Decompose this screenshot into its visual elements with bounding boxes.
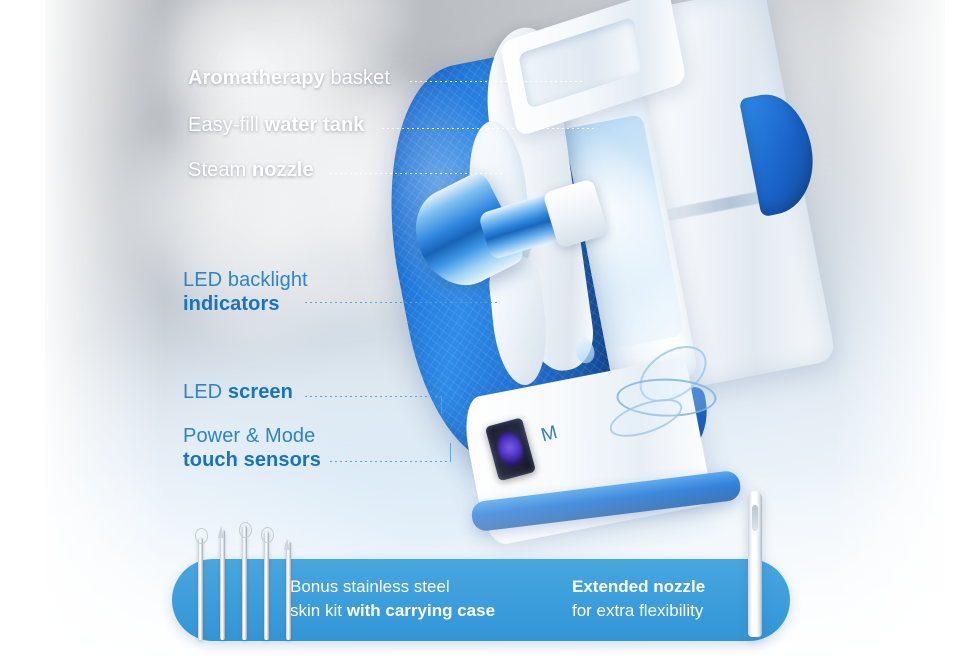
- skin-kit-tools: [196, 528, 300, 640]
- banner-left-line1: Bonus stainless steel: [290, 575, 495, 599]
- extended-nozzle: [748, 491, 762, 637]
- callout-led-screen: LED screen: [183, 380, 293, 404]
- skin-tool-loop-icon: [239, 522, 252, 538]
- callout-led-screen-light: LED: [183, 381, 228, 403]
- callout-water-tank-light: Easy-fill: [188, 114, 265, 136]
- callout-water-tank: Easy-fill water tank: [188, 113, 365, 137]
- callout-led-screen-bold: screen: [228, 381, 293, 403]
- callout-steam-nozzle-bold: nozzle: [252, 159, 314, 181]
- banner-right-line1: Extended nozzle: [572, 575, 705, 599]
- callout-aromatherapy-bold: Aromatherapy: [188, 67, 325, 89]
- banner-left-text: Bonus stainless steel skin kit with carr…: [290, 575, 495, 623]
- callout-led-backlight-indicators: LED backlight indicators: [183, 268, 308, 317]
- product-infographic: M Aromatherapy basket Easy-fill water ta…: [0, 0, 960, 660]
- callout-steam-nozzle-light: Steam: [188, 159, 252, 181]
- led-screen-glow: [494, 429, 526, 470]
- callout-aromatherapy-basket: Aromatherapy basket: [188, 66, 390, 90]
- facial-steamer-product: M: [375, 10, 845, 530]
- banner-right-line2: for extra flexibility: [572, 599, 705, 623]
- banner-right-text: Extended nozzle for extra flexibility: [572, 575, 705, 623]
- skin-tool-tip-icon: [218, 526, 224, 538]
- callout-led-backlight-line1: LED backlight: [183, 268, 308, 292]
- banner-left-line2-bold: with carrying case: [347, 601, 495, 620]
- leader-tick-led-screen: [441, 396, 442, 414]
- extended-nozzle-slot: [752, 505, 758, 531]
- callout-power-mode-line1: Power & Mode: [183, 424, 321, 448]
- skin-tool: [198, 538, 203, 640]
- leader-tick-power-mode: [450, 443, 451, 462]
- callout-aromatherapy-light: basket: [325, 67, 390, 89]
- callout-power-mode-line2: touch sensors: [183, 448, 321, 472]
- skin-tool-loop-icon: [261, 527, 274, 543]
- callout-water-tank-bold: water tank: [265, 114, 365, 136]
- skin-tool: [286, 542, 291, 640]
- callout-steam-nozzle: Steam nozzle: [188, 158, 314, 182]
- skin-tool-tip-icon: [284, 538, 290, 550]
- skin-tool: [242, 526, 247, 640]
- skin-tool: [264, 532, 269, 640]
- product-photo-plate: M: [45, 0, 945, 655]
- skin-tool-loop-icon: [195, 528, 208, 544]
- callout-power-mode-touch-sensors: Power & Mode touch sensors: [183, 424, 321, 473]
- skin-tool: [220, 530, 225, 640]
- callout-led-backlight-line2: indicators: [183, 292, 308, 316]
